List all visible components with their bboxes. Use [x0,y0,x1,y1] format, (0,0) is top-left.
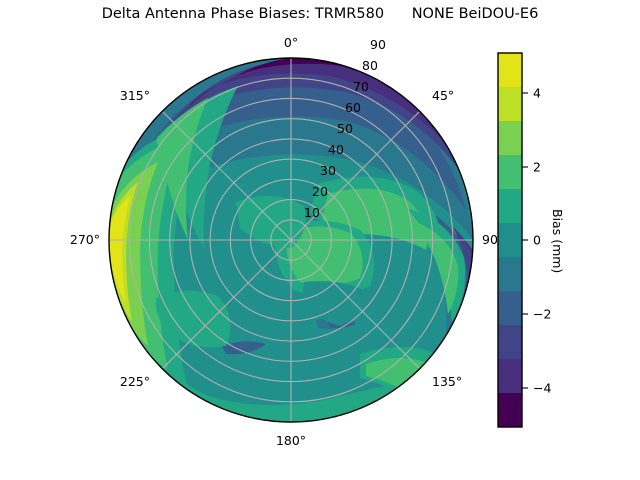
radial-label-50: 50 [337,121,353,136]
colorbar-ticks [522,93,528,388]
page-title: Delta Antenna Phase Biases: TRMR580 NONE… [0,6,640,22]
colorbar-tick-label-4: 4 [533,86,541,101]
angle-label-270: 270° [70,232,100,247]
figure-canvas: Delta Antenna Phase Biases: TRMR580 NONE… [0,0,640,480]
colorbar-band-3 [498,291,522,325]
angle-label-0: 0° [284,35,298,50]
colorbar-axis-label: Bias (mm) [545,186,565,296]
colorbar-svg: 4 2 0 −2 −4 [490,40,640,440]
polar-plot-svg: 0° 45° 90 135° 180° 225° 270° 315° 10 20… [60,34,480,454]
colorbar-band-4 [498,257,522,291]
colorbar-band-0 [498,393,522,427]
colorbar-tick-label-neg2: −2 [533,307,551,322]
colorbar-band-9 [498,87,522,121]
colorbar-band-2 [498,325,522,359]
angle-label-225: 225° [120,374,150,389]
radial-label-20: 20 [312,184,328,199]
polar-grid [109,58,473,422]
radial-label-10: 10 [304,205,320,220]
colorbar-band-1 [498,359,522,393]
radial-label-30: 30 [320,163,336,178]
colorbar-tick-label-0: 0 [533,233,541,248]
radial-label-90: 90 [370,37,386,52]
angle-label-45: 45° [432,88,454,103]
colorbar-band-8 [498,121,522,155]
colorbar-bands [498,53,522,427]
angle-label-315: 315° [120,88,150,103]
angle-label-135: 135° [432,374,462,389]
colorbar-band-6 [498,189,522,223]
colorbar-band-10 [498,53,522,87]
colorbar-band-7 [498,155,522,189]
colorbar-tick-label-neg4: −4 [533,381,551,396]
polar-contour-plot: 0° 45° 90 135° 180° 225° 270° 315° 10 20… [60,34,480,454]
colorbar-band-5 [498,223,522,257]
angle-label-180: 180° [276,433,306,448]
radial-label-70: 70 [353,79,369,94]
colorbar: 4 2 0 −2 −4 [490,40,640,440]
colorbar-tick-label-2: 2 [533,160,541,175]
radial-label-80: 80 [362,58,378,73]
radial-label-40: 40 [328,142,344,157]
radial-label-60: 60 [345,100,361,115]
